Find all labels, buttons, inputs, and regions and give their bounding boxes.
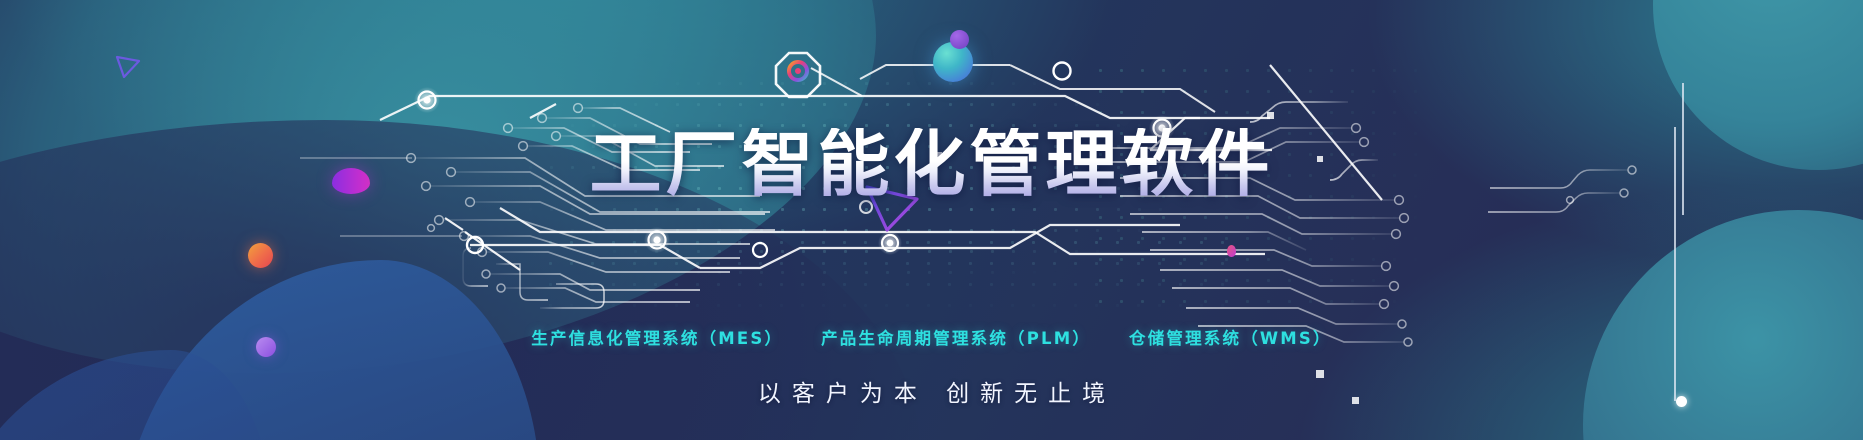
banner-text-content: 工厂智能化管理软件 生产信息化管理系统（MES） 产品生命周期管理系统（PLM）… bbox=[0, 0, 1863, 440]
system-label-plm: 产品生命周期管理系统（PLM） bbox=[821, 329, 1091, 348]
page-title: 工厂智能化管理软件 bbox=[0, 128, 1863, 200]
product-systems-list: 生产信息化管理系统（MES） 产品生命周期管理系统（PLM） 仓储管理系统（WM… bbox=[0, 325, 1863, 349]
system-label-wms: 仓储管理系统（WMS） bbox=[1129, 329, 1332, 348]
hero-banner: 工厂智能化管理软件 生产信息化管理系统（MES） 产品生命周期管理系统（PLM）… bbox=[0, 0, 1863, 440]
tagline: 以客户为本 创新无止境 bbox=[0, 374, 1863, 408]
system-label-mes: 生产信息化管理系统（MES） bbox=[531, 329, 783, 348]
